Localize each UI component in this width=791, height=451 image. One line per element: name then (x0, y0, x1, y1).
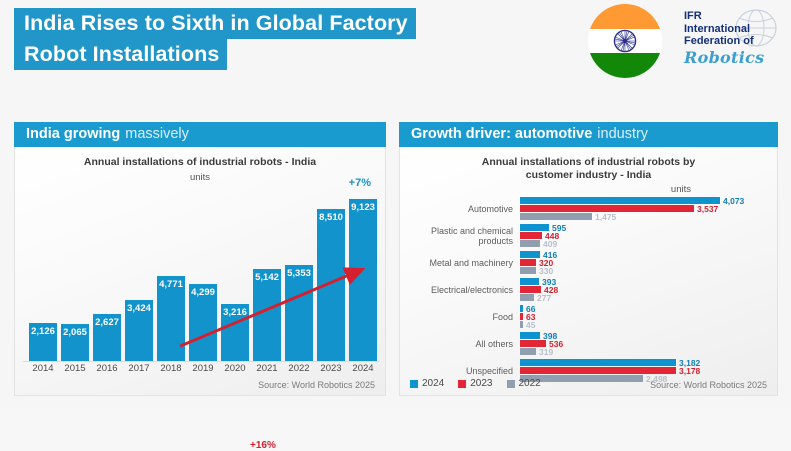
panel-right-header-light: industry (597, 122, 648, 147)
left-chart-source: Source: World Robotics 2025 (258, 380, 375, 390)
panel-left-body: Annual installations of industrial robot… (14, 147, 386, 396)
bar-rect-2022 (520, 321, 523, 328)
bar-row-label: Food (408, 312, 520, 323)
bar-row: Automotive4,0733,5371,475 (408, 197, 769, 221)
bar-rect-2024 (520, 197, 720, 204)
x-axis-tick-label: 2020 (221, 363, 249, 377)
ifr-logo-text: IFR International Federation of (684, 10, 776, 48)
bar-rect-2024 (520, 359, 676, 366)
x-axis-tick-label: 2021 (253, 363, 281, 377)
column-bar-rect: 5,353 (285, 265, 313, 361)
bar-value-2023: 3,537 (697, 204, 718, 214)
legend-swatch (458, 380, 466, 388)
right-chart-legend: 202420232022 (410, 378, 541, 389)
infographic-page: India Rises to Sixth in Global Factory R… (0, 0, 791, 409)
column-bar-value: 3,216 (223, 307, 247, 318)
bar-series-line: 409 (520, 240, 769, 247)
ifr-logo: IFR International Federation of Robotics (684, 8, 784, 70)
legend-item-2023[interactable]: 2023 (458, 378, 492, 389)
column-bar-value: 8,510 (319, 212, 343, 223)
bar-series-line: 66 (520, 305, 769, 312)
column-bar-value: 3,424 (127, 303, 151, 314)
bar-row-label: Metal and machinery (408, 258, 520, 269)
column-bar: 2,627 (93, 199, 121, 361)
bar-row-label: All others (408, 339, 520, 350)
bar-value-2023: 3,178 (679, 366, 700, 376)
x-axis-tick-label: 2014 (29, 363, 57, 377)
column-bar: 5,142 (253, 199, 281, 361)
left-chart-title: Annual installations of industrial robot… (15, 147, 385, 169)
bar-row: All others398536319 (408, 332, 769, 356)
bar-row-series: 398536319 (520, 332, 769, 356)
left-chart-plot: 2,1262,0652,6273,4244,7714,2993,2165,142… (29, 199, 377, 361)
bar-series-line: 319 (520, 348, 769, 355)
bar-rect-2022 (520, 348, 536, 355)
column-bar-rect: 3,424 (125, 300, 153, 361)
panel-right-body: Annual installations of industrial robot… (399, 147, 778, 396)
x-axis-tick-label: 2015 (61, 363, 89, 377)
right-chart-title-line-2: customer industry - India (400, 169, 777, 182)
bar-row-series: 595448409 (520, 224, 769, 248)
bar-series-line: 277 (520, 294, 769, 301)
bar-series-line: 1,475 (520, 213, 769, 220)
bar-series-line: 4,073 (520, 197, 769, 204)
bar-series-line: 330 (520, 267, 769, 274)
column-bar-rect: 2,065 (61, 324, 89, 361)
column-bar-value: 4,771 (159, 279, 183, 290)
right-chart-units: units (400, 184, 777, 195)
bar-value-2022: 45 (526, 320, 535, 330)
bar-series-line: 536 (520, 340, 769, 347)
india-flag-icon (588, 4, 662, 78)
column-bar-rect: 2,126 (29, 323, 57, 361)
column-bar: 2,065 (61, 199, 89, 361)
growth-label-2024: +7% (349, 177, 371, 189)
right-chart-plot: Automotive4,0733,5371,475Plastic and che… (408, 197, 769, 359)
panel-india-growing: India growing massively Annual installat… (14, 122, 386, 396)
column-bar: 3,216 (221, 199, 249, 361)
column-bar-value: 5,142 (255, 272, 279, 283)
legend-label: 2022 (519, 378, 541, 389)
x-axis-tick-label: 2018 (157, 363, 185, 377)
bar-row-series: 666345 (520, 305, 769, 329)
ashoka-chakra-icon (614, 30, 637, 53)
column-bar: 5,353 (285, 199, 313, 361)
bar-rect-2023 (520, 259, 536, 266)
bar-series-line: 45 (520, 321, 769, 328)
x-axis-tick-label: 2024 (349, 363, 377, 377)
bar-row: Metal and machinery416320330 (408, 251, 769, 275)
legend-item-2024[interactable]: 2024 (410, 378, 444, 389)
bar-rect-2022 (520, 294, 534, 301)
growth-label-2021: +16% (250, 440, 276, 451)
bar-series-line: 416 (520, 251, 769, 258)
column-bar: 3,424 (125, 199, 153, 361)
left-chart-x-axis: 2014201520162017201820192020202120222023… (29, 363, 377, 377)
column-bar-value: 9,123 (351, 202, 375, 213)
left-chart-units: units (15, 172, 385, 183)
ifr-logo-line-1: IFR (684, 10, 776, 23)
x-axis-tick-label: 2022 (285, 363, 313, 377)
column-bar-rect: 9,123 (349, 199, 377, 361)
bar-row-label: Unspecified (408, 366, 520, 377)
bar-series-line: 428 (520, 286, 769, 293)
bar-rect-2023 (520, 313, 523, 320)
column-bar-value: 4,299 (191, 287, 215, 298)
column-bar: 4,771 (157, 199, 185, 361)
column-bar: 4,299 (189, 199, 217, 361)
column-bar-rect: 5,142 (253, 269, 281, 361)
ifr-logo-line-2: International (684, 23, 776, 36)
panel-left-header-bold: India growing (26, 122, 120, 147)
bar-rect-2022 (520, 213, 592, 220)
bar-rect-2024 (520, 278, 539, 285)
column-bar: 2,126 (29, 199, 57, 361)
right-chart-title-line-1: Annual installations of industrial robot… (400, 156, 777, 169)
bar-rect-2023 (520, 232, 542, 239)
right-chart-source: Source: World Robotics 2025 (650, 380, 767, 390)
bar-series-line: 3,537 (520, 205, 769, 212)
page-title-line-2: Robot Installations (14, 39, 227, 70)
bar-row: Food666345 (408, 305, 769, 329)
column-series-2024: 2,1262,0652,6273,4244,7714,2993,2165,142… (29, 199, 377, 361)
bar-value-2024: 4,073 (723, 196, 744, 206)
column-bar-rect: 8,510 (317, 209, 345, 361)
panel-left-header-light: massively (125, 122, 189, 147)
bar-rect-2024 (520, 251, 540, 258)
bar-row-label: Automotive (408, 204, 520, 215)
bar-rect-2024 (520, 332, 540, 339)
bar-row-label: Plastic and chemical products (408, 226, 520, 247)
panel-right-header-bold: Growth driver: automotive (411, 122, 592, 147)
column-bar-value: 5,353 (287, 268, 311, 279)
bar-series-line: 448 (520, 232, 769, 239)
bar-row-series: 393428277 (520, 278, 769, 302)
bar-row-series: 416320330 (520, 251, 769, 275)
bar-row-label: Electrical/electronics (408, 285, 520, 296)
ifr-logo-script: Robotics (684, 48, 764, 67)
column-bar-rect: 4,771 (157, 276, 185, 361)
column-bar-value: 2,065 (63, 327, 87, 338)
column-bar-rect: 3,216 (221, 304, 249, 361)
x-axis-tick-label: 2016 (93, 363, 121, 377)
bar-value-2022: 1,475 (595, 212, 616, 222)
panel-right-header: Growth driver: automotive industry (399, 122, 778, 147)
legend-swatch (410, 380, 418, 388)
x-axis-tick-label: 2017 (125, 363, 153, 377)
left-chart-axis-line (23, 361, 379, 362)
ifr-logo-line-3: Federation of (684, 35, 776, 48)
column-bar-value: 2,126 (31, 326, 55, 337)
bar-series-line: 320 (520, 259, 769, 266)
column-bar: 9,123 (349, 199, 377, 361)
bar-value-2022: 319 (539, 347, 553, 357)
legend-label: 2024 (422, 378, 444, 389)
page-title-line-1: India Rises to Sixth in Global Factory (14, 8, 416, 39)
flag-band-green (588, 53, 662, 78)
column-bar-rect: 4,299 (189, 284, 217, 361)
panel-left-header: India growing massively (14, 122, 386, 147)
column-bar: 8,510 (317, 199, 345, 361)
legend-swatch (507, 380, 515, 388)
panel-growth-driver: Growth driver: automotive industry Annua… (399, 122, 778, 396)
flag-band-saffron (588, 4, 662, 29)
bar-row-series: 4,0733,5371,475 (520, 197, 769, 221)
bar-row: Electrical/electronics393428277 (408, 278, 769, 302)
bar-series-line: 3,182 (520, 359, 769, 366)
bar-rect-2022 (520, 267, 536, 274)
bar-rect-2022 (520, 240, 540, 247)
bar-series-line: 3,178 (520, 367, 769, 374)
column-bar-value: 2,627 (95, 317, 119, 328)
column-bar-rect: 2,627 (93, 314, 121, 361)
bar-value-2022: 409 (543, 239, 557, 249)
bar-rect-2024 (520, 305, 523, 312)
right-chart-title: Annual installations of industrial robot… (400, 147, 777, 182)
bar-row: Plastic and chemical products595448409 (408, 224, 769, 248)
legend-label: 2023 (470, 378, 492, 389)
legend-item-2022[interactable]: 2022 (507, 378, 541, 389)
bar-value-2022: 277 (537, 293, 551, 303)
bar-value-2022: 330 (539, 266, 553, 276)
page-title: India Rises to Sixth in Global Factory R… (14, 8, 534, 70)
bar-series-line: 63 (520, 313, 769, 320)
x-axis-tick-label: 2023 (317, 363, 345, 377)
x-axis-tick-label: 2019 (189, 363, 217, 377)
